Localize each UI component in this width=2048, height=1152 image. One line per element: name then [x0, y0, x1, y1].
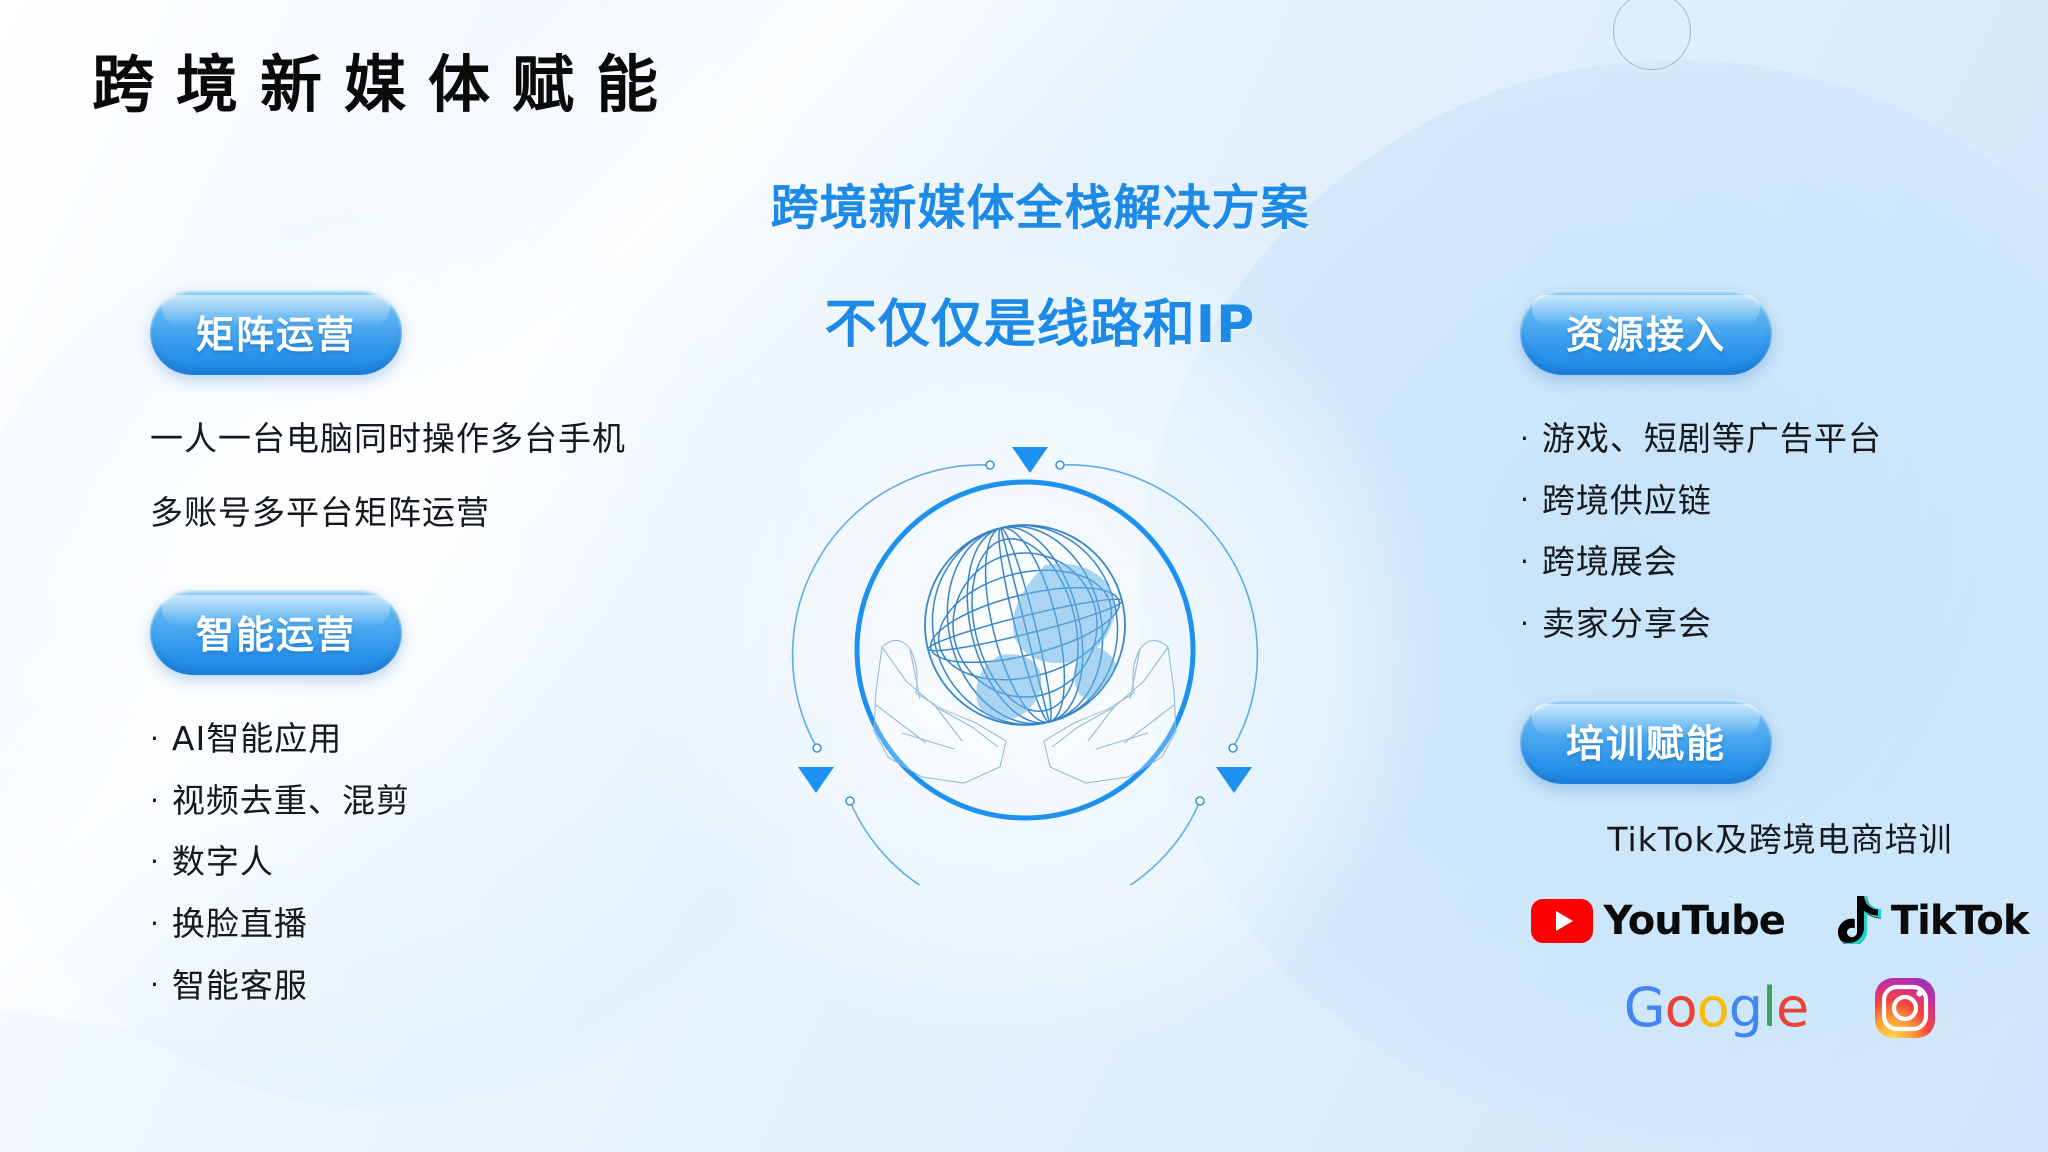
- globe-in-hands-illustration: [790, 415, 1260, 885]
- tiktok-logo: TikTok: [1837, 894, 2029, 949]
- list-item: · 换脸直播: [150, 904, 770, 944]
- bullet-dot-icon: ·: [150, 848, 160, 876]
- center-heading-line1: 跨境新媒体全栈解决方案: [640, 168, 1440, 238]
- list-item: · 智能客服: [150, 966, 770, 1006]
- page-title: 跨境新媒体赋能: [92, 34, 680, 124]
- bullet-dot-icon: ·: [1520, 548, 1530, 576]
- list-item: · 跨境展会: [1520, 542, 2040, 582]
- spacer: [1520, 375, 2040, 419]
- decorative-circle-outline: [1613, 0, 1691, 70]
- left-column: 矩阵运营 一人一台电脑同时操作多台手机 多账号多平台矩阵运营 智能运营 · AI…: [150, 290, 770, 1005]
- youtube-label: YouTube: [1603, 898, 1784, 944]
- badge-resource-access[interactable]: 资源接入: [1520, 290, 1772, 375]
- tiktok-label: TikTok: [1891, 898, 2029, 944]
- google-logo: Google: [1624, 981, 1808, 1035]
- youtube-play-icon: [1531, 899, 1593, 943]
- instagram-logo: [1874, 977, 1936, 1039]
- list-item-label: 数字人: [172, 842, 274, 882]
- spacer: [150, 375, 770, 419]
- bullet-dot-icon: ·: [150, 971, 160, 999]
- list-item-label: 卖家分享会: [1542, 604, 1712, 644]
- right-group-training-empowerment: 培训赋能 TikTok及跨境电商培训 YouTube: [1520, 699, 2040, 1039]
- badge-training-empowerment[interactable]: 培训赋能: [1520, 699, 1772, 784]
- list-item: · 视频去重、混剪: [150, 781, 770, 821]
- badge-smart-operations[interactable]: 智能运营: [150, 590, 402, 675]
- logo-row-bottom: Google: [1520, 977, 2040, 1039]
- right-column: 资源接入 · 游戏、短剧等广告平台 · 跨境供应链 · 跨境展会 · 卖家分享会: [1520, 290, 2040, 1039]
- list-item-label: 换脸直播: [172, 904, 308, 944]
- badge-matrix-operations[interactable]: 矩阵运营: [150, 290, 402, 375]
- bullet-dot-icon: ·: [150, 725, 160, 753]
- list-item-label: 视频去重、混剪: [172, 781, 410, 821]
- list-item-label: 智能客服: [172, 966, 308, 1006]
- training-description: TikTok及跨境电商培训: [1520, 820, 2040, 860]
- tiktok-note-icon: [1837, 894, 1883, 949]
- youtube-logo: YouTube: [1531, 898, 1784, 944]
- logo-row-top: YouTube TikTok: [1520, 894, 2040, 949]
- bullet-dot-icon: ·: [1520, 610, 1530, 638]
- list-item: · 数字人: [150, 842, 770, 882]
- spacer: [1520, 784, 2040, 820]
- bullet-dot-icon: ·: [1520, 425, 1530, 453]
- slide-canvas: 跨境新媒体赋能 跨境新媒体全栈解决方案 不仅仅是线路和IP: [0, 0, 2048, 1152]
- left-line-1: 一人一台电脑同时操作多台手机: [150, 419, 770, 459]
- list-item: · AI智能应用: [150, 719, 770, 759]
- list-item-label: 跨境展会: [1542, 542, 1678, 582]
- bullet-dot-icon: ·: [150, 910, 160, 938]
- list-item-label: AI智能应用: [172, 719, 342, 759]
- bullet-dot-icon: ·: [150, 787, 160, 815]
- left-group-matrix-operations: 矩阵运营 一人一台电脑同时操作多台手机 多账号多平台矩阵运营: [150, 290, 770, 532]
- list-item: · 卖家分享会: [1520, 604, 2040, 644]
- spacer: [150, 675, 770, 719]
- right-group-resource-access: 资源接入 · 游戏、短剧等广告平台 · 跨境供应链 · 跨境展会 · 卖家分享会: [1520, 290, 2040, 643]
- left-group-smart-operations: 智能运营 · AI智能应用 · 视频去重、混剪 · 数字人 · 换脸直播: [150, 590, 770, 1005]
- left-line-2: 多账号多平台矩阵运营: [150, 493, 770, 533]
- list-item: · 游戏、短剧等广告平台: [1520, 419, 2040, 459]
- bullet-dot-icon: ·: [1520, 486, 1530, 514]
- list-item-label: 游戏、短剧等广告平台: [1542, 419, 1882, 459]
- list-item-label: 跨境供应链: [1542, 481, 1712, 521]
- list-item: · 跨境供应链: [1520, 481, 2040, 521]
